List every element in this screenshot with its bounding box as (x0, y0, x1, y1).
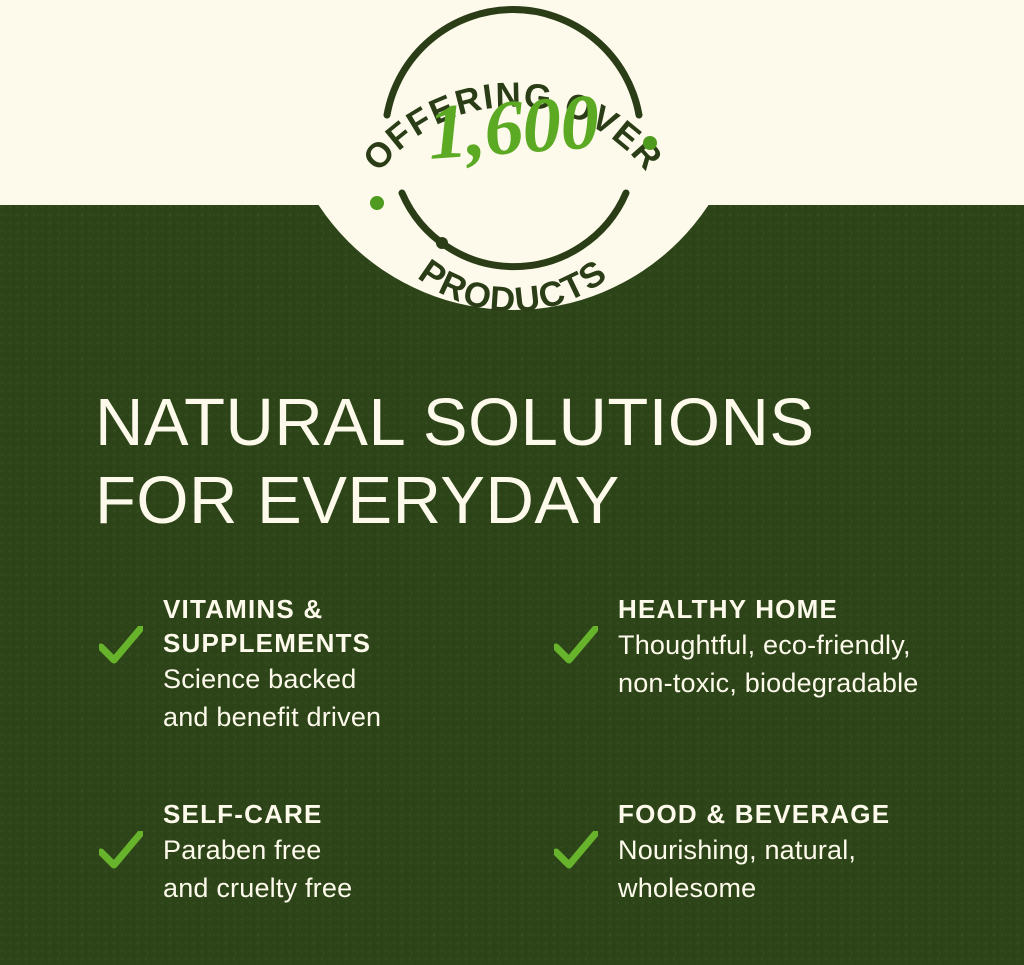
feature-description-line-2: non-toxic, biodegradable (618, 664, 995, 702)
feature-description-line-1: Nourishing, natural, (618, 831, 995, 869)
feature-description-line-2: wholesome (618, 869, 995, 907)
check-icon (99, 626, 143, 666)
page-title: NATURAL SOLUTIONS FOR EVERYDAY (95, 384, 975, 540)
feature-item-healthy-home: HEALTHY HOME Thoughtful, eco-friendly, n… (550, 592, 995, 797)
offering-over-products-badge: OFFERING OVER PRODUCTS 1,600 (330, 0, 696, 290)
feature-description-line-1: Thoughtful, eco-friendly, (618, 626, 995, 664)
feature-description-line-2: and cruelty free (163, 869, 550, 907)
feature-item-food-beverage: FOOD & BEVERAGE Nourishing, natural, who… (550, 797, 995, 937)
badge-dot-left-icon (370, 196, 384, 210)
headline-line-2: FOR EVERYDAY (95, 462, 975, 540)
feature-description-line-1: Science backed (163, 660, 550, 698)
check-icon (554, 626, 598, 666)
headline-line-1: NATURAL SOLUTIONS (95, 384, 975, 462)
feature-title-line-1: VITAMINS & (163, 594, 323, 624)
check-icon (99, 831, 143, 871)
feature-title: VITAMINS & SUPPLEMENTS (163, 592, 550, 660)
feature-description: Paraben free and cruelty free (163, 831, 550, 907)
badge-dot-lower-left-icon (436, 237, 448, 249)
feature-title: FOOD & BEVERAGE (618, 797, 995, 831)
feature-description-line-1: Paraben free (163, 831, 550, 869)
feature-grid: VITAMINS & SUPPLEMENTS Science backed an… (95, 592, 995, 937)
feature-description-line-2: and benefit driven (163, 698, 550, 736)
feature-description: Nourishing, natural, wholesome (618, 831, 995, 907)
feature-item-vitamins-supplements: VITAMINS & SUPPLEMENTS Science backed an… (95, 592, 550, 797)
feature-item-self-care: SELF-CARE Paraben free and cruelty free (95, 797, 550, 937)
feature-description: Thoughtful, eco-friendly, non-toxic, bio… (618, 626, 995, 702)
feature-title: SELF-CARE (163, 797, 550, 831)
check-icon (554, 831, 598, 871)
feature-description: Science backed and benefit driven (163, 660, 550, 736)
feature-title: HEALTHY HOME (618, 592, 995, 626)
promo-banner: OFFERING OVER PRODUCTS 1,600 NATURAL SOL… (0, 0, 1024, 965)
feature-title-line-2: SUPPLEMENTS (163, 628, 371, 658)
